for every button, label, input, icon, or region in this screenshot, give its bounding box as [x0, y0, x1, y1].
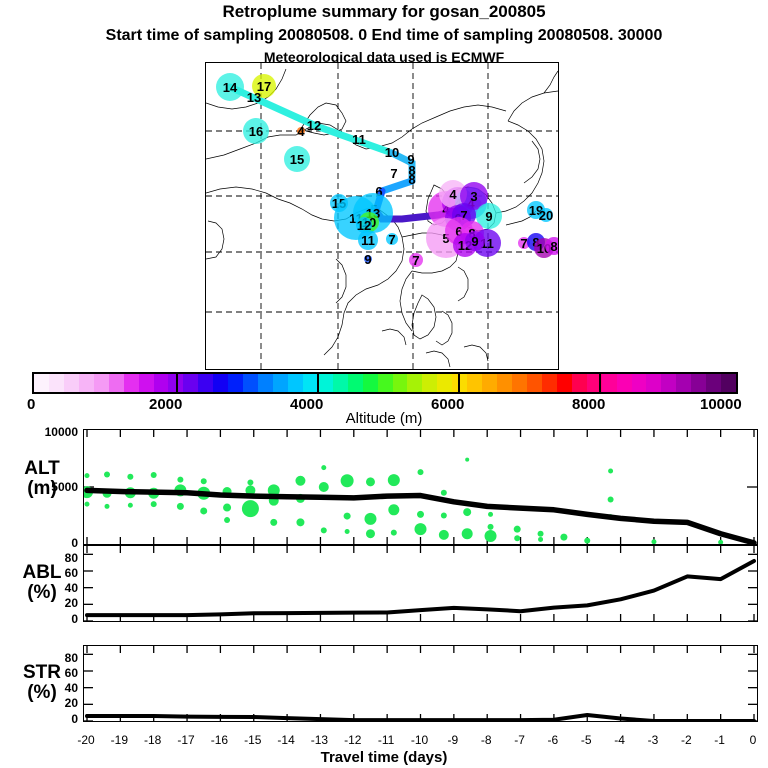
colorbar-sep-2000 — [176, 372, 178, 394]
colorbar-swatch-30 — [482, 374, 497, 392]
alt-scatter-point-42 — [418, 469, 424, 475]
alt-scatter-point-56 — [538, 531, 544, 537]
alt-scatter-point-11 — [151, 501, 157, 507]
alt-scatter-point-38 — [366, 529, 375, 538]
colorbar-swatch-46 — [721, 374, 736, 392]
abl-line — [87, 561, 754, 615]
colorbar-swatch-38 — [602, 374, 617, 392]
alt-scatter-point-58 — [560, 534, 567, 541]
colorbar-swatch-1 — [49, 374, 64, 392]
x-tick-label-14: -6 — [538, 733, 568, 747]
colorbar-swatch-6 — [124, 374, 139, 392]
colorbar-swatch-45 — [706, 374, 721, 392]
colorbar-swatch-16 — [273, 374, 288, 392]
colorbar-swatch-15 — [258, 374, 273, 392]
x-tick-label-1: -19 — [104, 733, 134, 747]
alt-scatter-point-22 — [242, 500, 259, 517]
colorbar-swatch-23 — [378, 374, 393, 392]
alt-plot — [84, 430, 757, 544]
colorbar-swatch-27 — [437, 374, 452, 392]
alt-scatter-point-35 — [345, 529, 350, 534]
map-marker-label-26: 4 — [449, 187, 457, 202]
alt-scatter-point-13 — [177, 477, 183, 483]
x-tick-label-9: -11 — [371, 733, 401, 747]
colorbar-swatch-32 — [512, 374, 527, 392]
alt-scatter-point-37 — [364, 513, 376, 525]
alt-scatter-point-1 — [85, 473, 90, 478]
map-marker-label-2: 13 — [247, 90, 261, 105]
str-ytick-80: 80 — [20, 651, 78, 665]
colorbar-swatch-25 — [407, 374, 422, 392]
colorbar-sep-6000 — [458, 372, 460, 394]
abl-ytick-80: 80 — [20, 551, 78, 565]
x-tick-label-15: -5 — [571, 733, 601, 747]
colorbar-swatch-10 — [183, 374, 198, 392]
abl-ytick-0: 0 — [20, 612, 78, 626]
alt-scatter-point-53 — [488, 524, 494, 530]
colorbar-title: Altitude (m) — [0, 410, 768, 427]
alt-scatter-point-14 — [177, 503, 184, 510]
x-tick-label-3: -17 — [171, 733, 201, 747]
colorbar-swatch-41 — [646, 374, 661, 392]
map-marker-label-36: 9 — [471, 234, 478, 249]
alt-scatter-point-7 — [127, 474, 133, 480]
map-marker-label-39: 20 — [539, 208, 553, 223]
colorbar-swatch-2 — [64, 374, 79, 392]
alt-scatter-point-48 — [465, 458, 469, 462]
alt-scatter-point-32 — [321, 527, 327, 533]
alt-scatter-point-51 — [488, 512, 493, 517]
map-marker-label-7: 11 — [352, 132, 366, 147]
alt-scatter-point-26 — [270, 519, 277, 526]
alt-scatter-point-4 — [104, 471, 110, 477]
sampling-time-line: Start time of sampling 20080508. 0 End t… — [0, 27, 768, 45]
alt-ytick-10000: 10000 — [20, 425, 78, 439]
map-marker-label-21: 7 — [388, 232, 395, 247]
alt-scatter-point-34 — [344, 513, 351, 520]
colorbar-swatch-34 — [542, 374, 557, 392]
alt-scatter-point-45 — [441, 490, 447, 496]
colorbar-swatch-31 — [497, 374, 512, 392]
x-tick-label-11: -9 — [438, 733, 468, 747]
x-tick-label-7: -13 — [304, 733, 334, 747]
colorbar-swatch-17 — [288, 374, 303, 392]
alt-panel — [83, 429, 758, 545]
alt-scatter-point-40 — [388, 504, 399, 515]
alt-scatter-point-30 — [321, 465, 326, 470]
colorbar-swatch-36 — [572, 374, 587, 392]
colorbar-swatch-0 — [34, 374, 49, 392]
abl-plot — [84, 546, 757, 621]
str-ytick-40: 40 — [20, 681, 78, 695]
alt-label-line1: ALT — [6, 459, 78, 479]
x-tick-label-17: -3 — [638, 733, 668, 747]
str-ticks-top — [87, 646, 754, 653]
colorbar-swatch-44 — [691, 374, 706, 392]
colorbar-swatch-40 — [632, 374, 647, 392]
str-ytick-60: 60 — [20, 666, 78, 680]
alt-scatter-point-63 — [651, 539, 656, 544]
colorbar-swatch-42 — [661, 374, 676, 392]
alt-scatter-point-61 — [608, 497, 614, 503]
alt-scatter-point-20 — [224, 517, 230, 523]
alt-scatter-point-10 — [151, 472, 157, 478]
str-yticks — [84, 654, 757, 721]
x-tick-label-4: -16 — [204, 733, 234, 747]
alt-scatter-point-64 — [718, 540, 723, 544]
map-marker-label-40: 7 — [520, 236, 527, 251]
alt-scatter-point-54 — [514, 526, 521, 533]
colorbar-swatch-39 — [617, 374, 632, 392]
colorbar-sep-4000 — [317, 372, 319, 394]
colorbar-swatch-13 — [228, 374, 243, 392]
colorbar-swatch-7 — [139, 374, 154, 392]
alt-ytick-0: 0 — [20, 536, 78, 550]
x-tick-label-0: -20 — [71, 733, 101, 747]
alt-scatter-point-17 — [200, 507, 207, 514]
str-ytick-0: 0 — [20, 712, 78, 726]
colorbar-swatch-18 — [303, 374, 318, 392]
colorbar-swatch-43 — [676, 374, 691, 392]
str-ytick-20: 20 — [20, 696, 78, 710]
colorbar-swatch-26 — [422, 374, 437, 392]
colorbar-swatch-21 — [348, 374, 363, 392]
altitude-colorbar — [32, 372, 738, 394]
colorbar-swatch-8 — [154, 374, 169, 392]
map-marker-label-8: 10 — [385, 145, 399, 160]
alt-scatter-point-41 — [391, 530, 397, 536]
alt-scatter-point-31 — [319, 482, 329, 492]
map-marker-label-27: 3 — [470, 189, 477, 204]
str-panel — [83, 645, 758, 722]
alt-scatter-point-27 — [295, 476, 305, 486]
colorbar-swatch-20 — [333, 374, 348, 392]
colorbar-swatch-22 — [363, 374, 378, 392]
colorbar-swatch-33 — [527, 374, 542, 392]
colorbar-swatch-3 — [79, 374, 94, 392]
x-axis-title: Travel time (days) — [0, 749, 768, 766]
alt-scatter — [84, 458, 723, 544]
alt-scatter-point-60 — [608, 469, 613, 474]
x-tick-label-18: -2 — [671, 733, 701, 747]
alt-scatter-point-57 — [538, 537, 543, 542]
colorbar-swatch-4 — [94, 374, 109, 392]
retroplume-map: 1417131612415111098876515111310121179444… — [205, 62, 559, 370]
alt-ytick-5000: 5000 — [20, 480, 78, 494]
map-marker-label-37: 7 — [412, 253, 419, 268]
x-tick-label-10: -10 — [405, 733, 435, 747]
map-marker-label-5: 4 — [297, 124, 305, 139]
alt-scatter-point-29 — [296, 518, 304, 526]
abl-ytick-40: 40 — [20, 581, 78, 595]
alt-scatter-point-36 — [366, 477, 375, 486]
alt-scatter-point-44 — [415, 523, 427, 535]
x-tick-label-13: -7 — [505, 733, 535, 747]
colorbar-swatch-35 — [557, 374, 572, 392]
x-tick-label-2: -18 — [138, 733, 168, 747]
alt-scatter-point-52 — [485, 530, 497, 542]
x-tick-label-19: -1 — [705, 733, 735, 747]
colorbar-swatch-5 — [109, 374, 124, 392]
x-tick-label-16: -4 — [605, 733, 635, 747]
alt-scatter-point-59 — [584, 538, 590, 544]
alt-scatter-point-23 — [247, 479, 253, 485]
str-xticks — [87, 646, 754, 721]
alt-scatter-point-49 — [463, 508, 471, 516]
colorbar-swatch-19 — [318, 374, 333, 392]
map-canvas: 1417131612415111098876515111310121179444… — [206, 63, 558, 369]
x-tick-label-12: -8 — [471, 733, 501, 747]
map-marker-label-3: 16 — [249, 124, 263, 139]
colorbar-swatch-11 — [198, 374, 213, 392]
alt-scatter-point-2 — [85, 502, 90, 507]
abl-panel — [83, 545, 758, 622]
alt-scatter-point-46 — [441, 513, 447, 519]
colorbar-swatch-14 — [243, 374, 258, 392]
abl-ytick-60: 60 — [20, 566, 78, 580]
map-marker-label-4: 12 — [307, 118, 321, 133]
alt-scatter-point-43 — [417, 511, 424, 518]
map-marker-label-43: 8 — [550, 239, 557, 254]
alt-scatter-point-55 — [514, 535, 520, 541]
alt-scatter-point-33 — [341, 474, 354, 487]
colorbar-swatch-29 — [467, 374, 482, 392]
alt-scatter-point-8 — [128, 503, 133, 508]
alt-scatter-point-39 — [388, 474, 400, 486]
map-marker-label-30: 9 — [485, 209, 492, 224]
alt-scatter-point-5 — [105, 504, 110, 509]
str-plot — [84, 646, 757, 721]
map-marker-label-0: 14 — [223, 80, 238, 95]
x-tick-label-6: -14 — [271, 733, 301, 747]
x-tick-label-5: -15 — [238, 733, 268, 747]
map-marker-label-20: 11 — [361, 233, 375, 248]
x-tick-label-20: 0 — [738, 733, 768, 747]
abl-ticks-top — [87, 546, 754, 553]
colorbar-sep-8000 — [599, 372, 601, 394]
alt-ticks-top — [87, 430, 754, 437]
abl-ytick-20: 20 — [20, 596, 78, 610]
alt-scatter-point-19 — [223, 504, 231, 512]
map-marker-label-11: 8 — [408, 172, 415, 187]
alt-scatter-point-47 — [439, 530, 449, 540]
map-marker-label-12: 7 — [390, 166, 397, 181]
alt-scatter-point-16 — [201, 478, 207, 484]
alt-scatter-point-50 — [462, 528, 473, 539]
map-marker-label-6: 15 — [290, 152, 304, 167]
map-marker-label-22: 9 — [364, 252, 371, 267]
colorbar-swatch-12 — [213, 374, 228, 392]
x-tick-label-8: -12 — [338, 733, 368, 747]
page-title: Retroplume summary for gosan_200805 — [0, 2, 768, 22]
colorbar-swatch-24 — [393, 374, 408, 392]
